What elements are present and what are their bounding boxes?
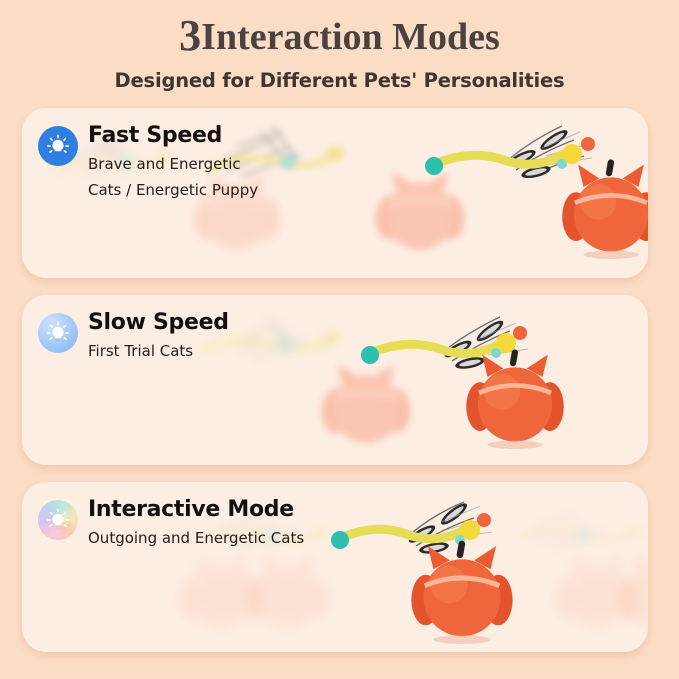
- product-feature-page: 3Interaction Modes Designed for Differen…: [0, 0, 679, 679]
- cat-toy-ball: [407, 534, 517, 644]
- mode-description-line: Outgoing and Energetic Cats: [88, 527, 304, 550]
- toy-motion-ghost: [612, 544, 648, 638]
- page-header: 3Interaction Modes Designed for Differen…: [0, 0, 679, 92]
- mode-text-slow-speed: Slow Speed First Trial Cats: [88, 309, 229, 363]
- feather-wand-ghost: [518, 492, 648, 562]
- lightbulb-icon-interactive-mode: [38, 500, 78, 540]
- bulb-glyph: [45, 133, 71, 159]
- bulb-glyph: [45, 320, 71, 346]
- mode-title: Slow Speed: [88, 309, 229, 337]
- mode-description-line: Brave and Energetic: [88, 153, 258, 176]
- page-subtitle: Designed for Different Pets' Personaliti…: [0, 69, 679, 92]
- mode-card-slow-speed: Slow Speed First Trial Cats: [22, 295, 648, 465]
- feather-wand: [352, 301, 542, 391]
- title-number: 3: [179, 11, 201, 60]
- title-text: Interaction Modes: [201, 16, 500, 58]
- mode-text-interactive-mode: Interactive Mode Outgoing and Energetic …: [88, 496, 304, 550]
- feather-wand: [322, 486, 512, 576]
- feather-wand: [412, 114, 612, 204]
- mode-card-list: Fast Speed Brave and Energetic Cats / En…: [0, 108, 679, 669]
- bulb-glyph: [45, 507, 71, 533]
- mode-card-interactive-mode: Interactive Mode Outgoing and Energetic …: [22, 482, 648, 652]
- lightbulb-icon-slow-speed: [38, 313, 78, 353]
- page-title: 3Interaction Modes: [0, 14, 679, 58]
- toy-motion-ghost: [316, 353, 416, 453]
- mode-title: Fast Speed: [88, 122, 258, 150]
- mode-title: Interactive Mode: [88, 496, 304, 524]
- mode-description-line: First Trial Cats: [88, 340, 229, 363]
- cat-toy-ball: [462, 343, 568, 449]
- toy-motion-ghost: [550, 544, 644, 638]
- mode-description-line: Cats / Energetic Puppy: [88, 179, 258, 202]
- mode-text-fast-speed: Fast Speed Brave and Energetic Cats / En…: [88, 122, 258, 202]
- toy-motion-ghost: [370, 160, 470, 260]
- toy-motion-ghost: [240, 544, 334, 638]
- cat-toy-ball: [558, 153, 648, 259]
- lightbulb-icon-fast-speed: [38, 126, 78, 166]
- mode-card-fast-speed: Fast Speed Brave and Energetic Cats / En…: [22, 108, 648, 278]
- toy-motion-ghost: [174, 544, 268, 638]
